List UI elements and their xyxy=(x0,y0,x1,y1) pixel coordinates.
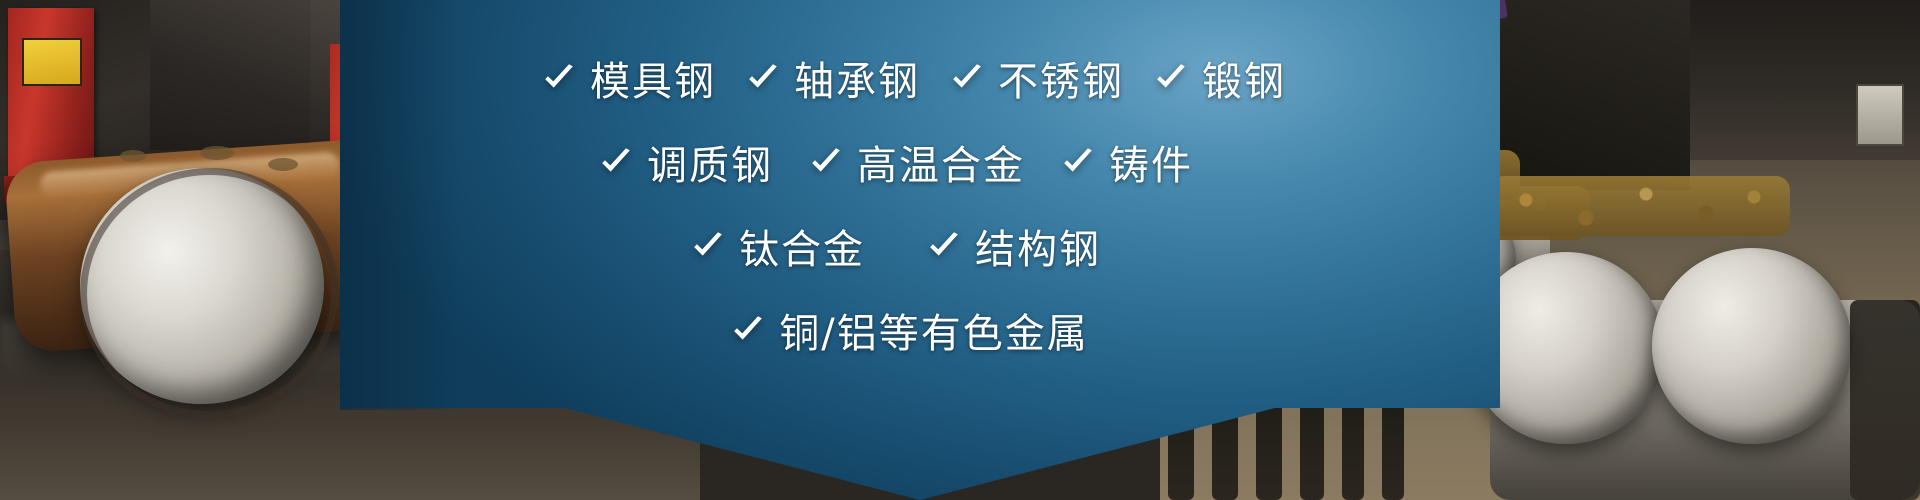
keyword-item-nonferrous-metals: 铜/铝等有色金属 xyxy=(731,301,1088,359)
keyword-label: 轴承钢 xyxy=(794,49,920,107)
right-photo-front-bar-end xyxy=(1652,248,1852,444)
check-mark-icon xyxy=(746,61,780,95)
right-photo-machine-shadow xyxy=(1850,300,1920,500)
keyword-label: 锻钢 xyxy=(1202,49,1286,107)
keyword-item-structural-steel: 结构钢 xyxy=(927,217,1101,275)
keyword-label: 铸件 xyxy=(1109,133,1193,191)
keyword-label: 调质钢 xyxy=(647,133,773,191)
keyword-row: 钛合金 结构钢 xyxy=(691,217,1101,275)
keyword-item-forged-steel: 锻钢 xyxy=(1154,49,1286,107)
check-mark-icon xyxy=(542,61,576,95)
check-mark-icon xyxy=(1061,145,1095,179)
check-mark-icon xyxy=(809,145,843,179)
keyword-item-titanium-alloy: 钛合金 xyxy=(691,217,865,275)
check-mark-icon xyxy=(927,229,961,263)
keyword-label: 铜/铝等有色金属 xyxy=(779,301,1088,359)
keyword-label: 高温合金 xyxy=(857,133,1025,191)
keyword-list: 模具钢 轴承钢 不锈钢 锻钢 xyxy=(340,0,1500,408)
check-mark-icon xyxy=(950,61,984,95)
keyword-label: 模具钢 xyxy=(590,49,716,107)
keyword-item-quenched-tempered-steel: 调质钢 xyxy=(599,133,773,191)
right-photo-metal-chips xyxy=(1490,176,1790,236)
right-photo-sign-plate xyxy=(1856,84,1904,146)
left-photo-yellow-label xyxy=(22,38,82,86)
keyword-row: 模具钢 轴承钢 不锈钢 锻钢 xyxy=(542,49,1286,107)
product-keywords-banner: 模具钢 轴承钢 不锈钢 锻钢 xyxy=(0,0,1920,500)
keyword-item-mold-steel: 模具钢 xyxy=(542,49,716,107)
keyword-row: 铜/铝等有色金属 xyxy=(731,301,1088,359)
keyword-label: 结构钢 xyxy=(975,217,1101,275)
keyword-item-superalloy: 高温合金 xyxy=(809,133,1025,191)
left-photo-chip xyxy=(120,150,146,162)
keyword-label: 钛合金 xyxy=(739,217,865,275)
left-photo-chip xyxy=(268,158,298,171)
keyword-item-bearing-steel: 轴承钢 xyxy=(746,49,920,107)
keyword-row: 调质钢 高温合金 铸件 xyxy=(599,133,1193,191)
keyword-item-stainless-steel: 不锈钢 xyxy=(950,49,1124,107)
check-mark-icon xyxy=(731,313,765,347)
left-photo-chip xyxy=(200,146,234,160)
check-mark-icon xyxy=(599,145,633,179)
keyword-item-castings: 铸件 xyxy=(1061,133,1193,191)
check-mark-icon xyxy=(1154,61,1188,95)
check-mark-icon xyxy=(691,229,725,263)
keyword-label: 不锈钢 xyxy=(998,49,1124,107)
right-photo-machine-body-2 xyxy=(1490,0,1690,190)
